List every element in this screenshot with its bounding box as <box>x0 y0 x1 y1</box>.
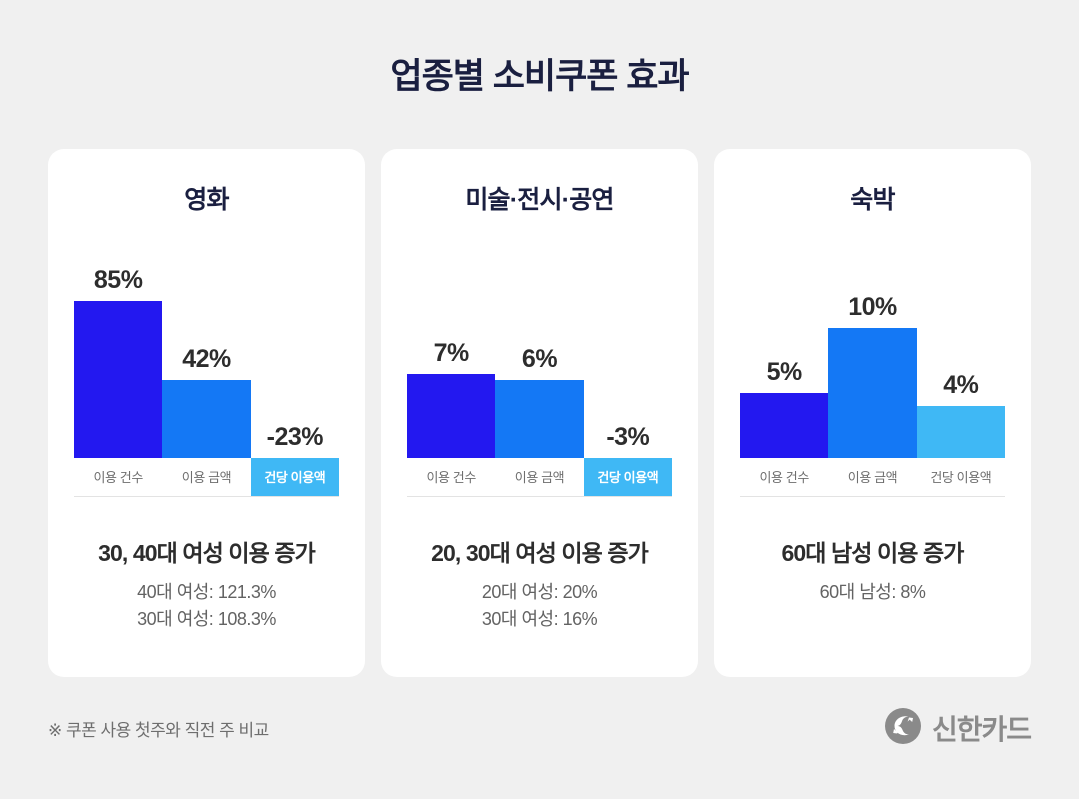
footnote: ※ 쿠폰 사용 첫주와 직전 주 비교 <box>48 716 269 741</box>
shinhan-logo-icon <box>884 707 922 750</box>
card-row: 영화 85% 42% -23% 이용 건수 이용 금액 건당 이용액 <box>0 149 1079 677</box>
bar-chart: 85% 42% -23% <box>74 216 339 458</box>
category-card-movie: 영화 85% 42% -23% 이용 건수 이용 금액 건당 이용액 <box>48 149 365 677</box>
card-footer: 20, 30대 여성 이용 증가 20대 여성: 20% 30대 여성: 16% <box>381 497 698 677</box>
bar-value-label: 7% <box>407 339 495 368</box>
footer-detail-list: 20대 여성: 20% 30대 여성: 16% <box>399 579 680 633</box>
category-card-lodging: 숙박 5% 10% 4% 이용 건수 이용 금액 건당 이용액 <box>714 149 1031 677</box>
axis-label-usage-count: 이용 건수 <box>407 458 495 496</box>
footer-detail-line: 60대 남성: 8% <box>732 579 1013 606</box>
footer-headline: 20, 30대 여성 이용 증가 <box>399 534 680 568</box>
bar-value-label: -23% <box>251 423 339 452</box>
bar-group: 5% 10% 4% <box>740 208 1005 458</box>
axis-label-row: 이용 건수 이용 금액 건당 이용액 <box>74 458 339 496</box>
bar-value-label: 5% <box>740 358 828 387</box>
bar-value-label: -3% <box>584 423 672 452</box>
footer-detail-line: 30대 여성: 108.3% <box>66 606 347 633</box>
bar-column-usage-count: 7% <box>407 374 495 458</box>
footer-detail-line: 40대 여성: 121.3% <box>66 579 347 606</box>
bar-value-label: 6% <box>495 345 583 374</box>
axis-label-usage-amount: 이용 금액 <box>495 458 583 496</box>
axis-label-row: 이용 건수 이용 금액 건당 이용액 <box>740 458 1005 496</box>
footer-detail-line: 30대 여성: 16% <box>399 606 680 633</box>
bar-chart: 7% 6% -3% <box>407 216 672 458</box>
bar-value-label: 10% <box>828 293 916 322</box>
bar-group: 7% 6% -3% <box>407 208 672 458</box>
axis-label-usage-amount: 이용 금액 <box>828 458 916 496</box>
bar-value-label: 4% <box>917 371 1005 400</box>
footer-detail-line: 20대 여성: 20% <box>399 579 680 606</box>
bar-usage-amount <box>495 380 583 458</box>
bar-usage-count <box>740 393 828 458</box>
bar-column-usage-count: 5% <box>740 393 828 458</box>
card-footer: 60대 남성 이용 증가 60대 남성: 8% <box>714 497 1031 677</box>
axis-label-usage-count: 이용 건수 <box>74 458 162 496</box>
brand-name: 신한카드 <box>932 708 1031 748</box>
axis-label-amount-per-use: 건당 이용액 <box>251 458 339 496</box>
bottom-bar: ※ 쿠폰 사용 첫주와 직전 주 비교 신한카드 <box>48 705 1031 751</box>
bar-amount-per-use <box>917 406 1005 458</box>
bar-value-label: 42% <box>162 345 250 374</box>
bar-column-amount-per-use: 4% <box>917 406 1005 458</box>
bar-usage-count <box>407 374 495 458</box>
bar-column-usage-amount: 6% <box>495 380 583 458</box>
footer-detail-list: 60대 남성: 8% <box>732 579 1013 606</box>
footer-headline: 60대 남성 이용 증가 <box>732 534 1013 568</box>
bar-usage-count <box>74 301 162 458</box>
bar-column-usage-amount: 42% <box>162 380 250 458</box>
card-footer: 30, 40대 여성 이용 증가 40대 여성: 121.3% 30대 여성: … <box>48 497 365 677</box>
axis-label-usage-amount: 이용 금액 <box>162 458 250 496</box>
axis-label-usage-count: 이용 건수 <box>740 458 828 496</box>
category-card-art-exhibition-performance: 미술·전시·공연 7% 6% -3% 이용 건수 이용 금액 건당 <box>381 149 698 677</box>
axis-label-amount-per-use: 건당 이용액 <box>917 458 1005 496</box>
bar-chart: 5% 10% 4% <box>740 216 1005 458</box>
bar-value-label: 85% <box>74 266 162 295</box>
axis-label-row: 이용 건수 이용 금액 건당 이용액 <box>407 458 672 496</box>
bar-column-usage-count: 85% <box>74 301 162 458</box>
bar-column-usage-amount: 10% <box>828 328 916 458</box>
page-title: 업종별 소비쿠폰 효과 <box>0 0 1079 99</box>
bar-usage-amount <box>828 328 916 458</box>
brand-logo: 신한카드 <box>884 707 1031 750</box>
axis-label-amount-per-use: 건당 이용액 <box>584 458 672 496</box>
bar-usage-amount <box>162 380 250 458</box>
bar-group: 85% 42% -23% <box>74 208 339 458</box>
footer-headline: 30, 40대 여성 이용 증가 <box>66 534 347 568</box>
footer-detail-list: 40대 여성: 121.3% 30대 여성: 108.3% <box>66 579 347 633</box>
